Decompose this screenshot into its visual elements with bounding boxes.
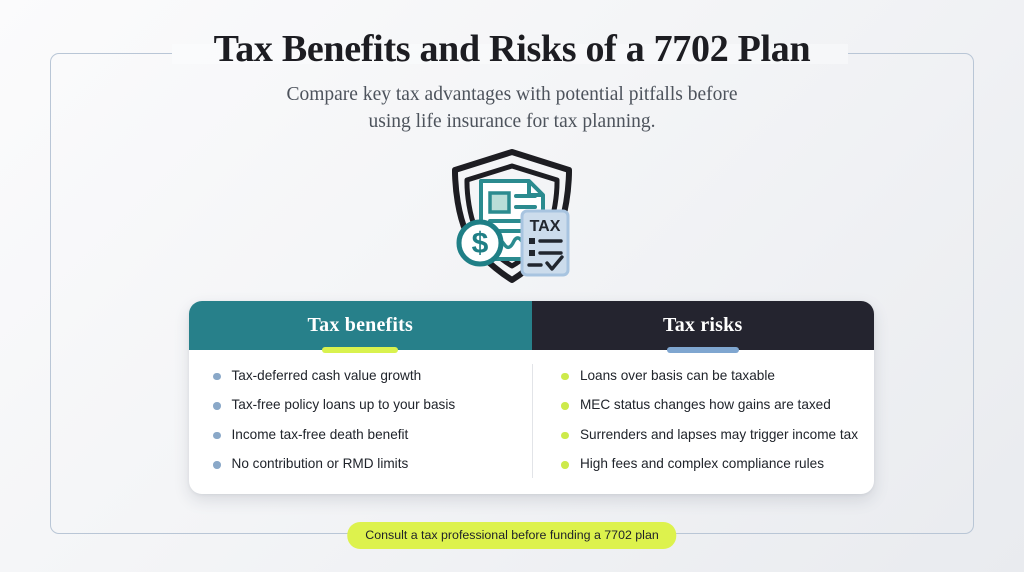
bullet-dot-icon (561, 373, 569, 381)
list-item-label: Loans over basis can be taxable (580, 368, 775, 385)
bullet-dot-icon (561, 402, 569, 410)
list-item: High fees and complex compliance rules (561, 456, 858, 473)
benefits-list: Tax-deferred cash value growth Tax-free … (213, 368, 511, 473)
comparison-card: Tax benefits Tax risks Tax-deferred cash… (189, 301, 874, 494)
list-item: Income tax-free death benefit (213, 427, 511, 444)
list-item-label: Surrenders and lapses may trigger income… (580, 427, 858, 444)
bullet-dot-icon (213, 461, 221, 469)
page-subtitle-line-1: Compare key tax advantages with potentia… (286, 84, 737, 105)
list-item: Tax-deferred cash value growth (213, 368, 511, 385)
list-item-label: Income tax-free death benefit (232, 427, 409, 444)
list-item: Tax-free policy loans up to your basis (213, 397, 511, 414)
bullet-dot-icon (561, 432, 569, 440)
bullet-dot-icon (561, 461, 569, 469)
page-subtitle: Compare key tax advantages with potentia… (0, 81, 1024, 136)
list-item: MEC status changes how gains are taxed (561, 397, 858, 414)
bullet-dot-icon (213, 373, 221, 381)
column-heading-benefits: Tax benefits (307, 314, 413, 337)
page-subtitle-line-2: using life insurance for tax planning. (368, 111, 655, 132)
svg-text:$: $ (472, 227, 489, 260)
list-item: Surrenders and lapses may trigger income… (561, 427, 858, 444)
page-header: Tax Benefits and Risks of a 7702 Plan Co… (0, 28, 1024, 136)
column-header-benefits: Tax benefits (189, 301, 532, 350)
bullet-dot-icon (213, 402, 221, 410)
column-header-risks: Tax risks (532, 301, 875, 350)
list-item-label: High fees and complex compliance rules (580, 456, 824, 473)
list-item-label: No contribution or RMD limits (232, 456, 409, 473)
list-item: Loans over basis can be taxable (561, 368, 858, 385)
page-title: Tax Benefits and Risks of a 7702 Plan (0, 28, 1024, 71)
column-divider (532, 364, 533, 478)
column-heading-risks: Tax risks (663, 314, 742, 337)
comparison-card-header: Tax benefits Tax risks (189, 301, 874, 350)
tax-checklist-label: TAX (530, 218, 561, 235)
column-benefits: Tax-deferred cash value growth Tax-free … (189, 350, 527, 494)
column-risks: Loans over basis can be taxable MEC stat… (527, 350, 874, 494)
footer-note-badge: Consult a tax professional before fundin… (347, 522, 676, 549)
bullet-dot-icon (213, 432, 221, 440)
shield-tax-document-icon: $ TAX (437, 146, 587, 288)
list-item-label: Tax-deferred cash value growth (232, 368, 422, 385)
comparison-card-body: Tax-deferred cash value growth Tax-free … (189, 350, 874, 494)
risks-list: Loans over basis can be taxable MEC stat… (561, 368, 858, 473)
list-item-label: Tax-free policy loans up to your basis (232, 397, 456, 414)
list-item: No contribution or RMD limits (213, 456, 511, 473)
list-item-label: MEC status changes how gains are taxed (580, 397, 831, 414)
